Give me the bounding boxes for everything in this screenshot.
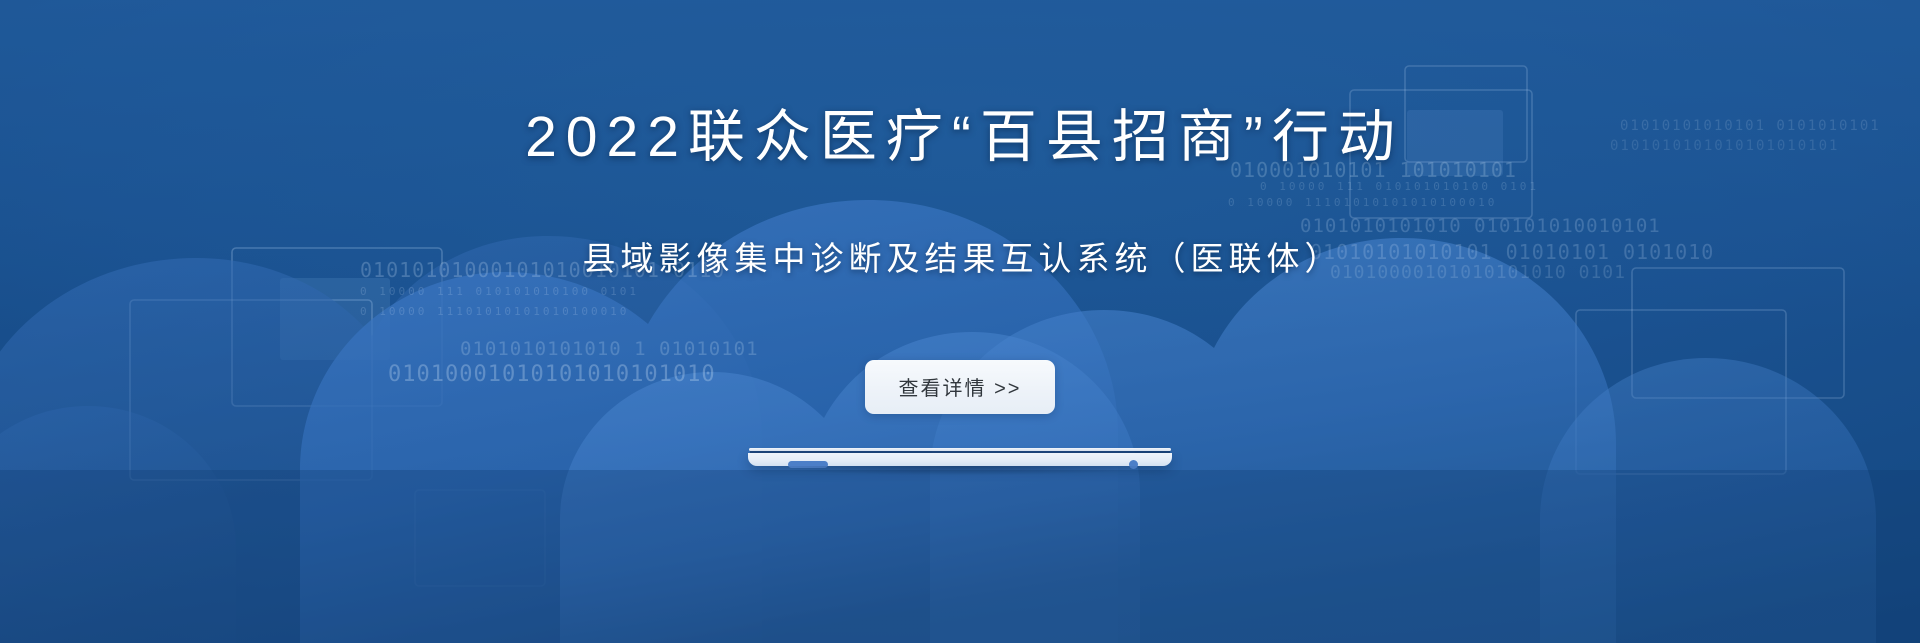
device-base-graphic — [748, 448, 1172, 474]
device-keyboard-deck — [748, 453, 1172, 466]
banner-content: 2022联众医疗“百县招商”行动 县域影像集中诊断及结果互认系统（医联体） 查看… — [0, 0, 1920, 643]
device-drop-shadow — [762, 466, 1158, 475]
promo-banner: 01010101000101010010101 0110 0 10000 111… — [0, 0, 1920, 643]
banner-main-title: 2022联众医疗“百县招商”行动 — [516, 108, 1404, 168]
cta-container: 查看详情 >> — [865, 360, 1056, 414]
banner-sub-title: 县域影像集中诊断及结果互认系统（医联体） — [578, 232, 1343, 280]
view-details-button[interactable]: 查看详情 >> — [865, 360, 1056, 414]
